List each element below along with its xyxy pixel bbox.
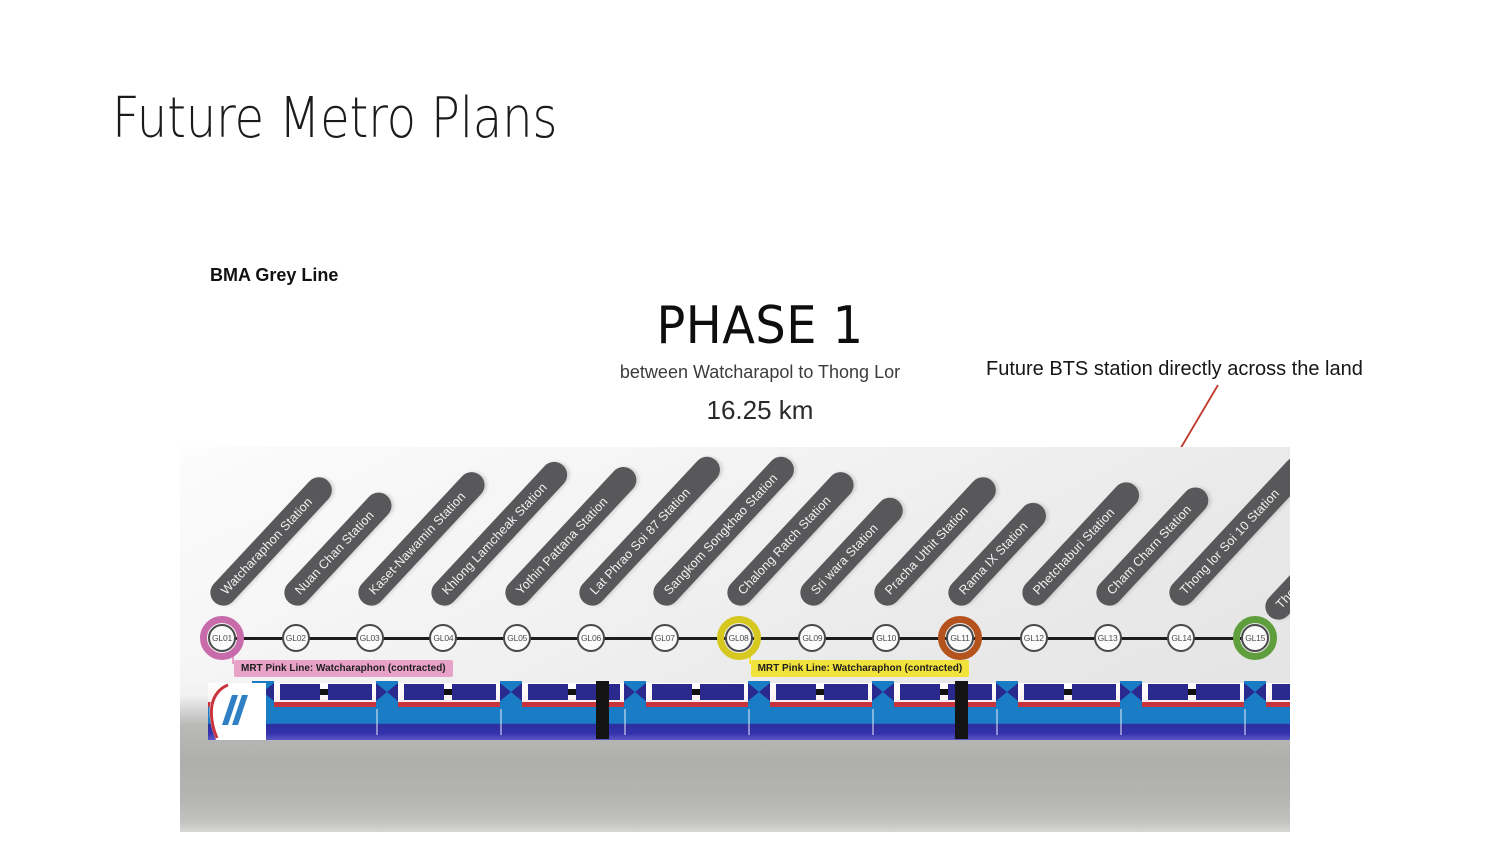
station-node-gl12[interactable]: GL12 [1020, 624, 1048, 652]
interchange-badge: MRT Pink Line: Watcharaphon (contracted) [234, 660, 453, 677]
train-illustration [180, 681, 1290, 747]
train-window [824, 684, 868, 700]
train-window [452, 684, 496, 700]
station-node-gl11[interactable]: GL11 [946, 624, 974, 652]
train-window [1072, 684, 1116, 700]
train-car-separator [624, 707, 626, 735]
train-car-separator [872, 707, 874, 735]
interchange-badge: MRT Pink Line: Watcharaphon (contracted) [751, 660, 970, 677]
station-code-label: GL09 [802, 633, 822, 643]
train-door [376, 681, 398, 709]
station-node-gl03[interactable]: GL03 [356, 624, 384, 652]
station-code-label: GL08 [729, 633, 749, 643]
track-support-pylon [955, 681, 968, 739]
train-window [404, 684, 444, 700]
station-code-label: GL15 [1245, 633, 1265, 643]
phase-distance: 16.25 km [560, 395, 960, 426]
train-window [776, 684, 816, 700]
station-node-gl08[interactable]: GL08 [725, 624, 753, 652]
station-node-gl05[interactable]: GL05 [503, 624, 531, 652]
station-code-label: GL12 [1024, 633, 1044, 643]
train-car-separator [376, 707, 378, 735]
line-label: BMA Grey Line [210, 265, 338, 286]
station-code-label: GL13 [1098, 633, 1118, 643]
annotation-label: Future BTS station directly across the l… [986, 358, 1363, 381]
phase-title: PHASE 1 [576, 298, 944, 354]
train-car-separator [748, 707, 750, 735]
train-car-separator [500, 707, 502, 735]
station-code-label: GL02 [286, 633, 306, 643]
station-code-label: GL03 [360, 633, 380, 643]
station-code-label: GL07 [655, 633, 675, 643]
train-window [1272, 684, 1290, 700]
page-title: Future Metro Plans [112, 86, 557, 151]
train-window [700, 684, 744, 700]
train-door [872, 681, 894, 709]
station-code-label: GL05 [507, 633, 527, 643]
train-window [1196, 684, 1240, 700]
station-node-gl01[interactable]: GL01 [208, 624, 236, 652]
station-code-label: GL14 [1171, 633, 1191, 643]
train-door [1244, 681, 1266, 709]
train-window [900, 684, 940, 700]
station-node-gl15[interactable]: GL15 [1241, 624, 1269, 652]
station-code-label: GL01 [212, 633, 232, 643]
train-door [624, 681, 646, 709]
station-code-label: GL11 [950, 633, 969, 643]
train-car-separator [1120, 707, 1122, 735]
station-code-label: GL04 [433, 633, 453, 643]
phase-subtitle: between Watcharapol to Thong Lor [560, 362, 960, 383]
metro-line-diagram: Watcharaphon StationNuan Chan StationKas… [180, 447, 1290, 832]
station-node-gl13[interactable]: GL13 [1094, 624, 1122, 652]
train-nose-icon [208, 683, 266, 740]
station-node-gl06[interactable]: GL06 [577, 624, 605, 652]
track-support-pylon [596, 681, 609, 739]
station-code-label: GL10 [876, 633, 896, 643]
train-window [1024, 684, 1064, 700]
train-window [1148, 684, 1188, 700]
train-car-separator [996, 707, 998, 735]
train-door [996, 681, 1018, 709]
train-door [500, 681, 522, 709]
train-window [328, 684, 372, 700]
station-node-gl07[interactable]: GL07 [651, 624, 679, 652]
train-window [280, 684, 320, 700]
station-node-gl10[interactable]: GL10 [872, 624, 900, 652]
train-door [1120, 681, 1142, 709]
train-window [652, 684, 692, 700]
train-window [528, 684, 568, 700]
train-door [748, 681, 770, 709]
station-code-label: GL06 [581, 633, 601, 643]
station-node-gl02[interactable]: GL02 [282, 624, 310, 652]
phase-heading-block: PHASE 1 between Watcharapol to Thong Lor… [560, 298, 960, 426]
train-car-separator [1244, 707, 1246, 735]
